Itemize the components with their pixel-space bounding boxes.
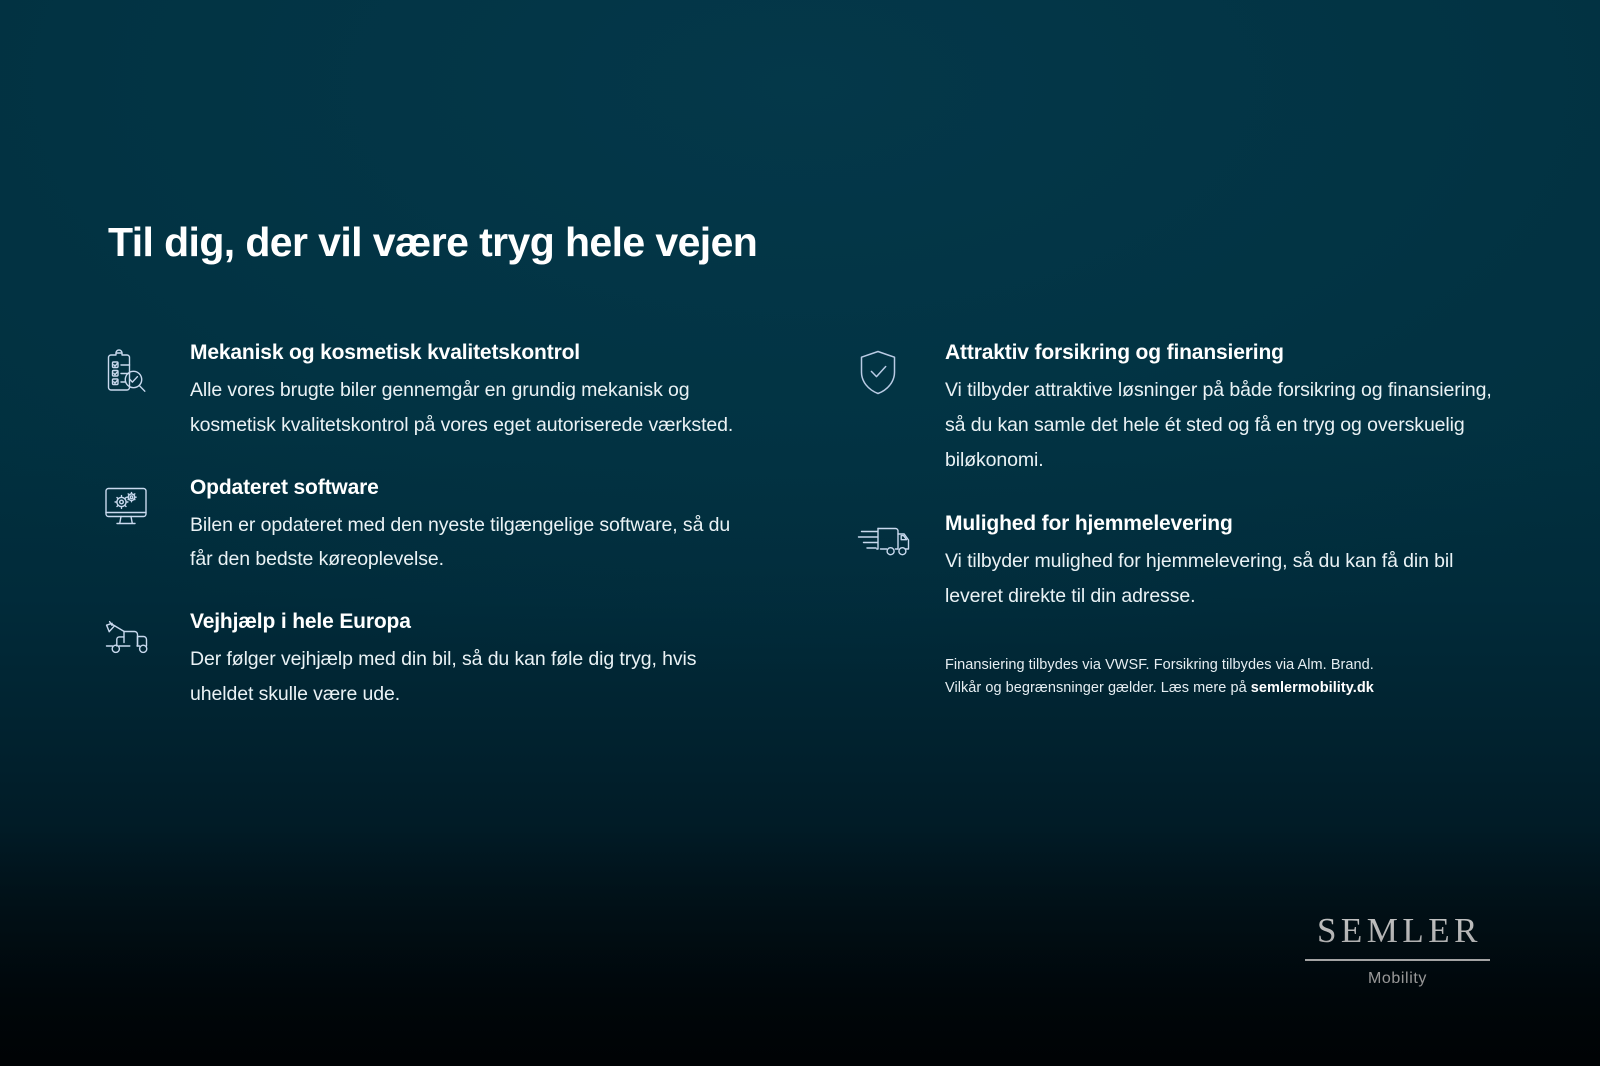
clipboard-check-magnifier-icon	[100, 348, 158, 402]
feature-roadside-assistance: Vejhjælp i hele Europa Der følger vejhjæ…	[100, 609, 745, 712]
fineprint-line-1: Finansiering tilbydes via VWSF. Forsikri…	[945, 654, 1500, 677]
features-column-left: Mekanisk og kosmetisk kvalitetskontrol A…	[100, 340, 745, 748]
feature-quality-control: Mekanisk og kosmetisk kvalitetskontrol A…	[100, 340, 745, 443]
tow-truck-icon	[100, 617, 158, 671]
fineprint-line-2: Vilkår og begrænsninger gælder. Læs mere…	[945, 677, 1500, 700]
slide-canvas: Til dig, der vil være tryg hele vejen	[0, 0, 1600, 1066]
feature-home-delivery: Mulighed for hjemmelevering Vi tilbyder …	[855, 511, 1500, 614]
logo-subtitle: Mobility	[1305, 970, 1490, 988]
feature-title: Opdateret software	[190, 475, 745, 500]
feature-insurance-financing: Attraktiv forsikring og finansiering Vi …	[855, 340, 1500, 477]
feature-text: Der følger vejhjælp med din bil, så du k…	[190, 642, 745, 711]
feature-text: Alle vores brugte biler gennemgår en gru…	[190, 373, 745, 442]
feature-body: Attraktiv forsikring og finansiering Vi …	[913, 340, 1500, 477]
logo-divider	[1305, 959, 1490, 962]
feature-title: Attraktiv forsikring og finansiering	[945, 340, 1500, 365]
page-title: Til dig, der vil være tryg hele vejen	[108, 219, 757, 266]
monitor-gears-icon	[100, 483, 158, 537]
feature-text: Vi tilbyder attraktive løsninger på både…	[945, 373, 1500, 477]
feature-body: Mekanisk og kosmetisk kvalitetskontrol A…	[158, 340, 745, 443]
feature-body: Vejhjælp i hele Europa Der følger vejhjæ…	[158, 609, 745, 712]
features-column-right: Attraktiv forsikring og finansiering Vi …	[855, 340, 1500, 748]
semler-mobility-logo: SEMLER Mobility	[1305, 913, 1490, 989]
feature-text: Bilen er opdateret med den nyeste tilgæn…	[190, 508, 745, 577]
feature-title: Mulighed for hjemmelevering	[945, 511, 1500, 536]
feature-body: Mulighed for hjemmelevering Vi tilbyder …	[913, 511, 1500, 614]
semlermobility-link[interactable]: semlermobility.dk	[1251, 680, 1374, 696]
fineprint: Finansiering tilbydes via VWSF. Forsikri…	[945, 654, 1500, 700]
feature-updated-software: Opdateret software Bilen er opdateret me…	[100, 475, 745, 578]
fineprint-line-2-text: Vilkår og begrænsninger gælder. Læs mere…	[945, 680, 1251, 696]
feature-title: Vejhjælp i hele Europa	[190, 609, 745, 634]
feature-body: Opdateret software Bilen er opdateret me…	[158, 475, 745, 578]
logo-wordmark: SEMLER	[1305, 913, 1490, 948]
feature-text: Vi tilbyder mulighed for hjemmelevering,…	[945, 544, 1500, 613]
features-columns: Mekanisk og kosmetisk kvalitetskontrol A…	[100, 340, 1500, 748]
feature-title: Mekanisk og kosmetisk kvalitetskontrol	[190, 340, 745, 365]
delivery-truck-icon	[855, 519, 913, 573]
shield-check-icon	[855, 348, 913, 402]
